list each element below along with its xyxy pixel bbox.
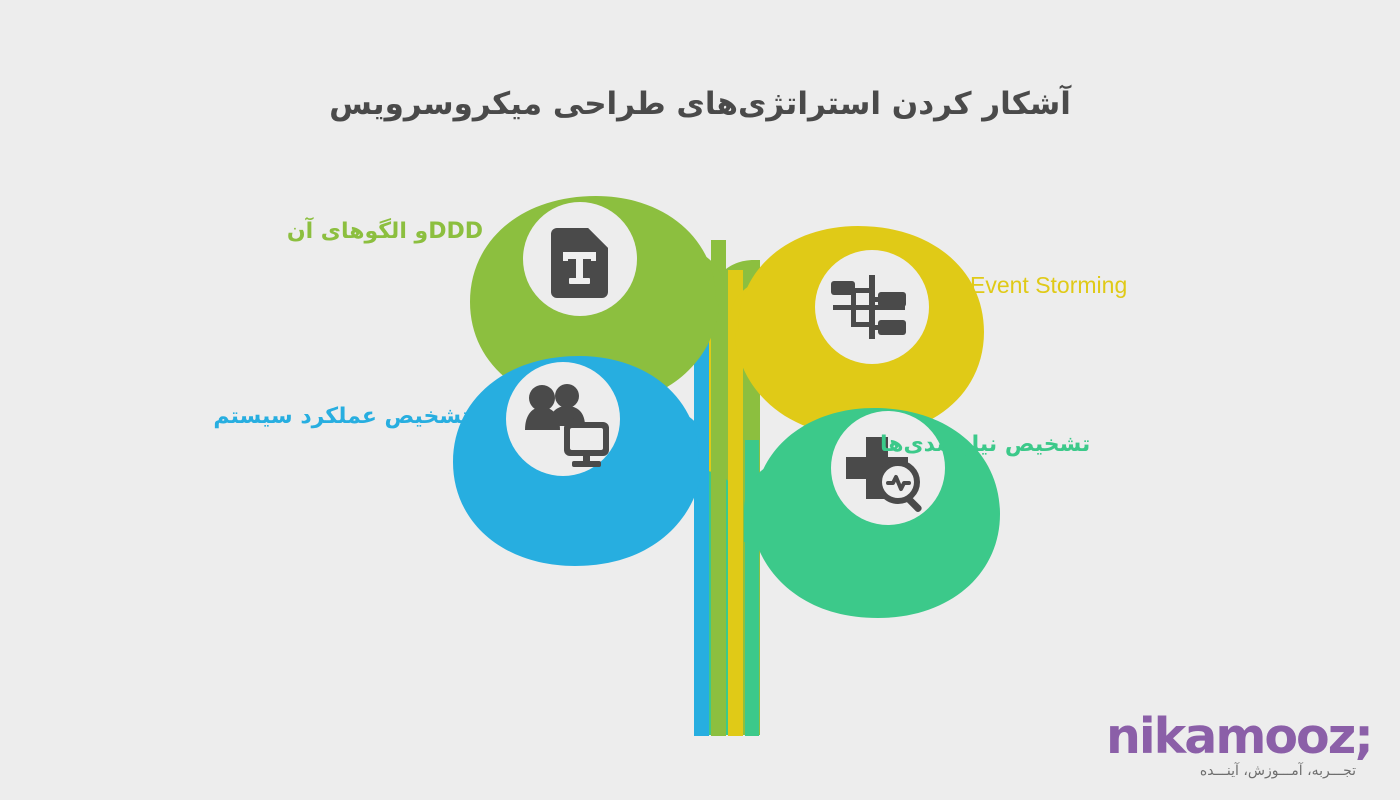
logo-word-text: nikamooz xyxy=(1106,708,1354,765)
branch-label-requirements[interactable]: تشخیص نیازمندی‌ها xyxy=(880,432,1200,457)
nikamooz-logo[interactable]: nikamooz; تجـــربه، آمـــوزش، آینـــده xyxy=(1106,712,1356,788)
stem-bar-blue xyxy=(694,300,709,736)
logo-semicolon: ; xyxy=(1354,708,1372,765)
branch-label-event-storming[interactable]: Event Storming xyxy=(970,272,1350,299)
tree-diagram xyxy=(0,0,1400,800)
logo-wordmark: nikamooz; xyxy=(1106,712,1356,764)
branch-label-ddd[interactable]: DDDو الگوهای آن xyxy=(108,219,483,244)
infographic-canvas: آشکار کردن استراتژی‌های طراحی میکروسرویس xyxy=(0,0,1400,800)
branch-label-system-performance[interactable]: تشخیص عملکرد سیستم xyxy=(90,404,470,429)
